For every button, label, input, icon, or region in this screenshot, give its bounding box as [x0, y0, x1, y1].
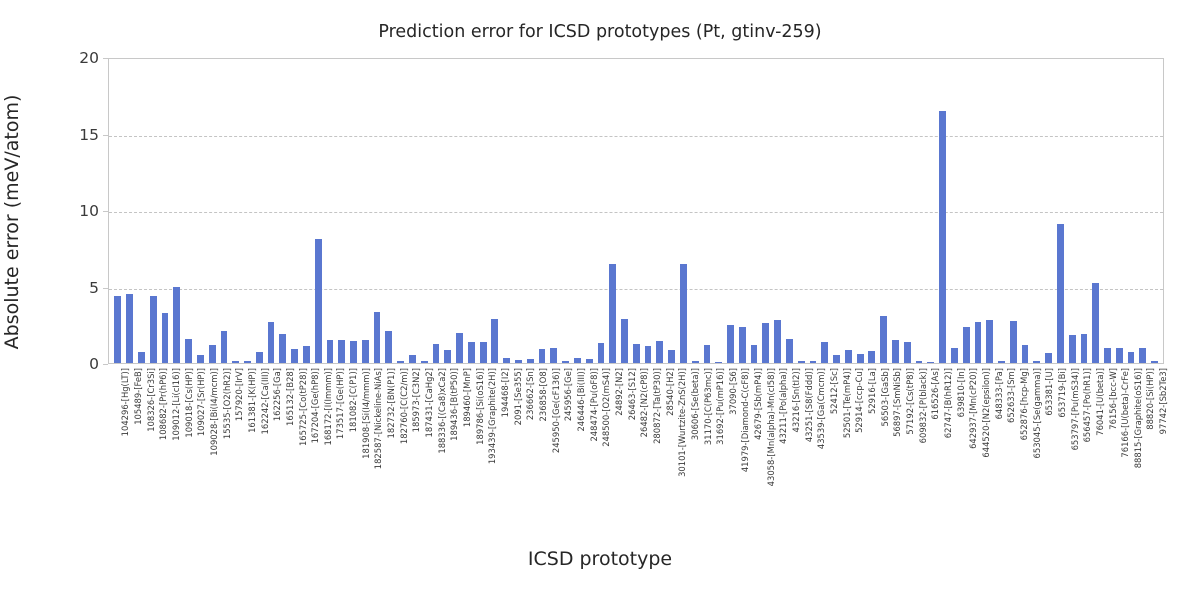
bar[interactable] — [680, 264, 687, 363]
x-tick-label: 2091-[Se355] — [513, 368, 523, 425]
x-tick-label: 188336-[(Ca8)xCa2] — [437, 368, 447, 454]
bar[interactable] — [350, 341, 357, 363]
bar[interactable] — [468, 342, 475, 363]
bar-slot — [996, 59, 1008, 363]
bar-slot — [477, 59, 489, 363]
x-tick-label: 42679-[Sb(mP4)] — [753, 368, 763, 440]
x-tick-label: 52914-[ccp-Cu] — [854, 368, 864, 433]
x-tick-label: 97742-[Sb2Te3] — [1158, 368, 1168, 434]
y-tick-label: 20 — [39, 49, 99, 67]
x-tick-label: 246446-[Bi(III)] — [576, 368, 586, 432]
bar-slot — [301, 59, 313, 363]
chart-title: Prediction error for ICSD prototypes (Pt… — [0, 22, 1200, 42]
x-tick-label: 165725-[Co(tP28)] — [298, 368, 308, 446]
bar-slot — [206, 59, 218, 363]
x-tick-label: 56503-[GaSb] — [880, 368, 890, 426]
bar[interactable] — [1139, 348, 1146, 363]
bar-slot — [748, 59, 760, 363]
bar-slot — [1031, 59, 1043, 363]
bar-slot — [536, 59, 548, 363]
x-tick-label: 56897-[SmNiSb] — [892, 368, 902, 437]
x-tick-label: 185973-[C3N2] — [411, 368, 421, 432]
bar-slot — [807, 59, 819, 363]
bar-slot — [312, 59, 324, 363]
bar[interactable] — [209, 345, 216, 363]
x-tick-label: 43058-[Mn(alpha)-Mn(cI58)] — [766, 368, 776, 486]
x-tick-label: 52501-[Te(mP4)] — [842, 368, 852, 438]
bar[interactable] — [221, 331, 228, 363]
x-tick-label: 280872-[Ta(tP30)] — [652, 368, 662, 444]
bar-slot — [336, 59, 348, 363]
y-tick-label: 0 — [39, 355, 99, 373]
bar-slot — [913, 59, 925, 363]
x-tick-label: 76166-[U(beta)-CrFe] — [1120, 368, 1130, 458]
bar[interactable] — [433, 344, 440, 363]
bar-slot — [265, 59, 277, 363]
x-tick-label: 165132-[B28] — [285, 368, 295, 426]
bar-slot — [925, 59, 937, 363]
bar-slot — [359, 59, 371, 363]
x-tick-label: 642937-[Mn(cP20)] — [968, 368, 978, 449]
x-tick-label: 41979-[Diamond-C(cF8)] — [740, 368, 750, 472]
bar-slot — [842, 59, 854, 363]
bar-slot — [713, 59, 725, 363]
bar-slot — [454, 59, 466, 363]
bar[interactable] — [798, 361, 805, 363]
bar-slot — [819, 59, 831, 363]
x-tick-label: 653381-[U] — [1044, 368, 1054, 416]
bar-slot — [1090, 59, 1102, 363]
x-tick-label: 31692-[Pu(mP16)] — [715, 368, 725, 445]
bar-slot — [1055, 59, 1067, 363]
x-tick-label: 76156-[bcc-W] — [1108, 368, 1118, 430]
y-tick-mark — [103, 135, 108, 136]
bar-slot — [1125, 59, 1137, 363]
bar[interactable] — [1116, 348, 1123, 363]
bar-slot — [560, 59, 572, 363]
bar[interactable] — [786, 339, 793, 363]
x-tick-label: 652876-[hcp-Mg] — [1019, 368, 1029, 440]
x-tick-label: 167204-[Ge(hP8)] — [310, 368, 320, 443]
bar-slot — [831, 59, 843, 363]
bar[interactable] — [150, 296, 157, 363]
bar[interactable] — [338, 340, 345, 363]
bar-slot — [371, 59, 383, 363]
chart-figure: Prediction error for ICSD prototypes (Pt… — [0, 0, 1200, 600]
x-tick-label: 37090-[S6] — [728, 368, 738, 415]
x-tick-label: 57192-[Cs(tP8)] — [905, 368, 915, 435]
bar-slot — [418, 59, 430, 363]
bar[interactable] — [868, 351, 875, 363]
bar[interactable] — [1128, 352, 1135, 363]
bar-slot — [1149, 59, 1161, 363]
bar-slot — [960, 59, 972, 363]
bar[interactable] — [562, 361, 569, 363]
bar[interactable] — [1104, 348, 1111, 363]
bar[interactable] — [303, 346, 310, 363]
bar[interactable] — [385, 331, 392, 363]
bar[interactable] — [409, 355, 416, 363]
x-tick-label: 52916-[La] — [867, 368, 877, 414]
bar-slot — [218, 59, 230, 363]
bar[interactable] — [739, 327, 746, 363]
x-tick-label: 88815-[Graphite(oS16)] — [1133, 368, 1143, 468]
x-tick-label: 157920-[IrV] — [234, 368, 244, 421]
bar-slot — [760, 59, 772, 363]
x-tick-label: 31170-[C(P63mc)] — [703, 368, 713, 445]
bar-slot — [736, 59, 748, 363]
bar[interactable] — [857, 354, 864, 363]
bar[interactable] — [727, 325, 734, 363]
bar[interactable] — [421, 361, 428, 363]
bar[interactable] — [715, 362, 722, 363]
y-tick-label: 10 — [39, 202, 99, 220]
x-tick-label: 26482-[N2(cP8)] — [639, 368, 649, 437]
bar[interactable] — [362, 340, 369, 363]
bar-slot — [878, 59, 890, 363]
bar-slot — [595, 59, 607, 363]
bar-slot — [866, 59, 878, 363]
bar[interactable] — [244, 361, 251, 363]
x-tick-label: 194468-[I2] — [500, 368, 510, 417]
bar-slot — [1102, 59, 1114, 363]
bar-slot — [1043, 59, 1055, 363]
bar-slot — [654, 59, 666, 363]
x-tick-label: 161381-[K(HP)] — [247, 368, 257, 433]
bar[interactable] — [963, 327, 970, 363]
bar[interactable] — [480, 342, 487, 363]
bar-slot — [984, 59, 996, 363]
bar[interactable] — [527, 359, 534, 363]
bar[interactable] — [162, 313, 169, 363]
bar-slot — [242, 59, 254, 363]
bar-series — [109, 59, 1163, 363]
y-tick-mark — [103, 211, 108, 212]
bar[interactable] — [621, 319, 628, 363]
bar-slot — [159, 59, 171, 363]
x-tick-label: 43251-[S8(Fddd)] — [804, 368, 814, 442]
bar-slot — [194, 59, 206, 363]
bar[interactable] — [185, 339, 192, 363]
bar[interactable] — [126, 294, 133, 363]
bar[interactable] — [598, 343, 605, 363]
x-tick-label: 245956-[Ge] — [563, 368, 573, 421]
bar[interactable] — [951, 348, 958, 363]
x-tick-label: 28540-[H2] — [665, 368, 675, 416]
y-tick-label: 15 — [39, 126, 99, 144]
bar[interactable] — [1057, 224, 1064, 363]
bar[interactable] — [197, 355, 204, 363]
x-tick-label: 109028-[Bi(I4/mcm)] — [209, 368, 219, 456]
bar-slot — [1113, 59, 1125, 363]
bar[interactable] — [656, 341, 663, 363]
bar[interactable] — [633, 344, 640, 363]
bar[interactable] — [1033, 361, 1040, 363]
bar-slot — [501, 59, 513, 363]
bar[interactable] — [975, 322, 982, 363]
bar[interactable] — [1151, 361, 1158, 363]
bar-slot — [277, 59, 289, 363]
x-tick-label: 653797-[Pu(mS34)] — [1070, 368, 1080, 450]
bar[interactable] — [444, 350, 451, 363]
bar-slot — [548, 59, 560, 363]
bar-slot — [678, 59, 690, 363]
bar[interactable] — [1010, 321, 1017, 363]
x-tick-label: 189436-[B(tP50)] — [449, 368, 459, 441]
x-tick-label: 15535-[O2(hR2)] — [222, 368, 232, 439]
bar[interactable] — [762, 323, 769, 363]
bar[interactable] — [315, 239, 322, 363]
x-tick-label: 653719-[Bi] — [1057, 368, 1067, 418]
bar-slot — [1137, 59, 1149, 363]
bar[interactable] — [374, 312, 381, 363]
bar-slot — [1007, 59, 1019, 363]
bar[interactable] — [939, 111, 946, 363]
bar-slot — [890, 59, 902, 363]
y-tick-mark — [103, 288, 108, 289]
x-tick-label: 182587-[Nickeline-NiAs] — [373, 368, 383, 469]
bar-slot — [1066, 59, 1078, 363]
bar-slot — [901, 59, 913, 363]
bar-slot — [124, 59, 136, 363]
bar-slot — [630, 59, 642, 363]
x-tick-label: 236662-[Sn] — [525, 368, 535, 420]
x-tick-label: 616526-[As] — [930, 368, 940, 420]
bar-slot — [854, 59, 866, 363]
x-tick-label: 189786-[Si(oS16)] — [475, 368, 485, 445]
bar-slot — [395, 59, 407, 363]
bar-slot — [772, 59, 784, 363]
bar-slot — [571, 59, 583, 363]
bar-slot — [583, 59, 595, 363]
bar[interactable] — [503, 358, 510, 363]
bar[interactable] — [810, 361, 817, 363]
bar-slot — [289, 59, 301, 363]
x-tick-label: 193439-[Graphite(2H)] — [487, 368, 497, 464]
plot-area — [108, 58, 1164, 364]
bar[interactable] — [774, 320, 781, 363]
x-tick-label: 109012-[Li(cI16)] — [171, 368, 181, 441]
x-tick-label: 648333-[Pa] — [994, 368, 1004, 419]
bar-slot — [465, 59, 477, 363]
bar[interactable] — [645, 346, 652, 363]
bar-slot — [513, 59, 525, 363]
x-tick-label: 653045-[Se(gamma)] — [1032, 368, 1042, 458]
x-tick-label: 162256-[Ga] — [272, 368, 282, 421]
bar-slot — [171, 59, 183, 363]
bar[interactable] — [1092, 283, 1099, 363]
bar[interactable] — [1069, 335, 1076, 363]
x-tick-label: 245950-[Ge(cF136)] — [551, 368, 561, 453]
bar[interactable] — [232, 361, 239, 363]
x-axis-label: ICSD prototype — [0, 548, 1200, 570]
bar[interactable] — [515, 360, 522, 363]
y-tick-mark — [103, 58, 108, 59]
bar[interactable] — [279, 334, 286, 363]
x-tick-label: 30101-[Wurtzite-ZnS(2H)] — [677, 368, 687, 477]
x-tick-label: 43539-[Ga(Cmcm)] — [816, 368, 826, 449]
x-tick-label: 181908-[Si(I4/mmm)] — [361, 368, 371, 459]
bar[interactable] — [916, 361, 923, 363]
x-tick-label: 109027-[Sr(HP)] — [196, 368, 206, 436]
bar[interactable] — [550, 348, 557, 363]
bar[interactable] — [904, 342, 911, 363]
bar-slot — [136, 59, 148, 363]
bar-slot — [407, 59, 419, 363]
bar-slot — [430, 59, 442, 363]
bar-slot — [725, 59, 737, 363]
x-tick-label: 109018-[Cs(HP)] — [184, 368, 194, 438]
x-tick-label: 652633-[Sm] — [1006, 368, 1016, 423]
bar-slot — [489, 59, 501, 363]
x-tick-label: 248474-[Pu(oF8)] — [589, 368, 599, 442]
bar[interactable] — [574, 358, 581, 363]
bar-slot — [183, 59, 195, 363]
x-tick-label: 248500-[O2(mS4)] — [601, 368, 611, 447]
bar-slot — [972, 59, 984, 363]
bar-slot — [348, 59, 360, 363]
bar-slot — [524, 59, 536, 363]
bar[interactable] — [256, 352, 263, 363]
bar[interactable] — [1022, 345, 1029, 363]
bar-slot — [112, 59, 124, 363]
x-tick-label: 189460-[MnP] — [462, 368, 472, 427]
x-tick-label: 104296-[Hg(LT)] — [120, 368, 130, 436]
bar[interactable] — [397, 361, 404, 363]
bar[interactable] — [114, 296, 121, 363]
x-tick-label: 182732-[BN(P1)] — [386, 368, 396, 438]
bar-slot — [948, 59, 960, 363]
bar[interactable] — [268, 322, 275, 363]
bar-slot — [784, 59, 796, 363]
bar-slot — [666, 59, 678, 363]
bar[interactable] — [821, 342, 828, 363]
bar[interactable] — [927, 362, 934, 363]
x-tick-label: 108682-[Pr(hP6)] — [158, 368, 168, 440]
bar-slot — [642, 59, 654, 363]
x-tick-label: 24892-[N2] — [614, 368, 624, 416]
bar-slot — [619, 59, 631, 363]
x-tick-label: 173517-[Ge(HP)] — [335, 368, 345, 439]
x-tick-label: 88820-[Si(HP)] — [1145, 368, 1155, 430]
bar[interactable] — [609, 264, 616, 363]
bar[interactable] — [173, 287, 180, 364]
x-tick-label: 181082-[C(P1)] — [348, 368, 358, 432]
bar-slot — [253, 59, 265, 363]
x-tick-label: 236858-[O8] — [538, 368, 548, 421]
bar[interactable] — [668, 350, 675, 363]
bar-slot — [1078, 59, 1090, 363]
bar-slot — [383, 59, 395, 363]
x-tick-label: 108326-[Cr3Si] — [146, 368, 156, 432]
bar[interactable] — [692, 361, 699, 363]
bar-slot — [689, 59, 701, 363]
bar[interactable] — [704, 345, 711, 363]
bar-slot — [442, 59, 454, 363]
x-tick-label: 644520-[N2(epsilon)] — [981, 368, 991, 458]
bar[interactable] — [138, 352, 145, 363]
bar[interactable] — [539, 349, 546, 363]
x-tick-label: 656457-[Po(hR1)] — [1082, 368, 1092, 442]
bar-slot — [147, 59, 159, 363]
bar-slot — [230, 59, 242, 363]
x-tick-label: 182760-[C(C2/m)] — [399, 368, 409, 444]
bar[interactable] — [892, 340, 899, 363]
bar[interactable] — [880, 316, 887, 363]
bar[interactable] — [1081, 334, 1088, 363]
bar-slot — [1019, 59, 1031, 363]
x-tick-label: 187431-[CaHg2] — [424, 368, 434, 437]
bar[interactable] — [456, 333, 463, 363]
bar-slot — [795, 59, 807, 363]
y-axis-label: Absolute error (meV/atom) — [1, 42, 23, 402]
x-tick-label: 162242-[Ca(III)] — [260, 368, 270, 434]
x-tick-label: 52412-[Sc] — [829, 368, 839, 414]
bar[interactable] — [986, 320, 993, 363]
bar-slot — [701, 59, 713, 363]
x-tick-label: 30606-[Se(beta)] — [690, 368, 700, 440]
bar[interactable] — [491, 319, 498, 363]
bar[interactable] — [751, 345, 758, 363]
x-tick-label: 43216-[Sn(tI2)] — [791, 368, 801, 432]
bar[interactable] — [998, 361, 1005, 363]
bar[interactable] — [291, 349, 298, 363]
bar[interactable] — [833, 355, 840, 363]
bar[interactable] — [1045, 353, 1052, 363]
x-tick-label: 168172-[I(Immm)] — [323, 368, 333, 445]
x-tick-label: 62747-[B(hR12)] — [943, 368, 953, 438]
bar-slot — [937, 59, 949, 363]
bar[interactable] — [845, 350, 852, 363]
bar-slot — [324, 59, 336, 363]
bar[interactable] — [586, 359, 593, 363]
x-tick-label: 639810-[In] — [956, 368, 966, 417]
bar[interactable] — [327, 340, 334, 363]
y-tick-mark — [103, 364, 108, 365]
y-tick-label: 5 — [39, 279, 99, 297]
bar-slot — [607, 59, 619, 363]
x-tick-label: 105489-[FeB] — [133, 368, 143, 425]
x-tick-label: 609832-[P(black)] — [918, 368, 928, 443]
x-tick-label: 43211-[Po(alpha)] — [778, 368, 788, 444]
x-tick-label: 76041-[U(beta)] — [1095, 368, 1105, 436]
x-tick-label: 26463-[S12] — [627, 368, 637, 420]
